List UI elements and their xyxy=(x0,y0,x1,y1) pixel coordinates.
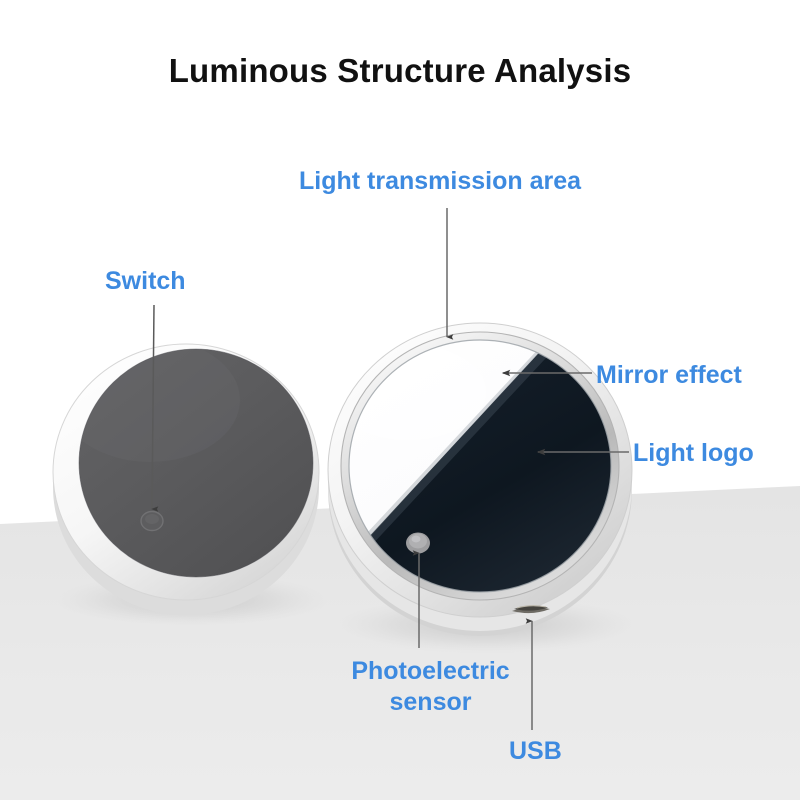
leader-switch xyxy=(152,305,154,509)
callout-photoelectric-sensor-line1: Photoelectric xyxy=(351,657,509,685)
callout-light-transmission-area: Light transmission area xyxy=(299,166,581,197)
callout-usb: USB xyxy=(509,736,562,767)
callout-photoelectric-sensor-line2: sensor xyxy=(333,687,528,718)
callout-mirror-effect: Mirror effect xyxy=(596,360,742,391)
callout-photoelectric-sensor: Photoelectric sensor xyxy=(333,656,528,717)
callout-light-logo: Light logo xyxy=(633,438,754,469)
page-title: Luminous Structure Analysis xyxy=(0,52,800,90)
infographic-canvas: Luminous Structure Analysis Light transm… xyxy=(0,0,800,800)
callout-switch: Switch xyxy=(105,266,186,297)
